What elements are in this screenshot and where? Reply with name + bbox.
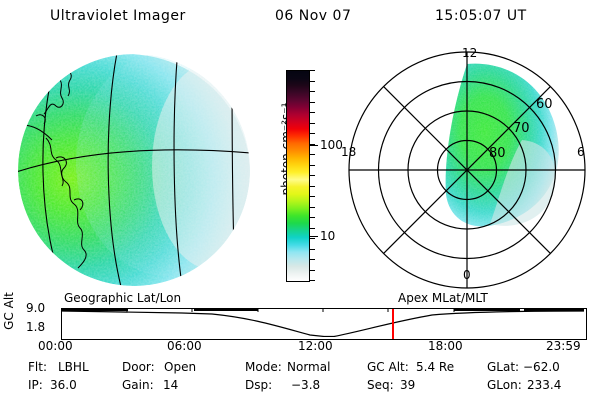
gc-altitude-trace <box>62 309 584 337</box>
orbit-timeline-panel[interactable]: Geographic Lat/Lon Apex MLat/MLT GC Alt … <box>0 290 600 356</box>
globe-panel-caption: Geographic Lat/Lon <box>64 291 181 305</box>
status-glat-key: GLat: <box>487 360 519 374</box>
timeline-y-tick-high: 9.0 <box>26 301 45 315</box>
observation-date: 06 Nov 07 <box>275 8 351 24</box>
polar-panel-caption: Apex MLat/MLT <box>398 291 488 305</box>
colorbar-minor-tick <box>309 81 315 82</box>
status-gcalt-value: 5.4 Re <box>416 360 454 374</box>
status-mode-key: Mode: <box>245 360 282 374</box>
timeline-x-tick-2: 12:00 <box>298 339 333 353</box>
colorbar-minor-tick <box>309 270 315 271</box>
status-door-key: Door: <box>122 360 155 374</box>
header-bar: Ultraviolet Imager 06 Nov 07 15:05:07 UT <box>0 4 600 30</box>
status-glat-value: −62.0 <box>523 360 560 374</box>
status-seq-key: Seq: <box>367 378 394 392</box>
mlt-label-6: 6 <box>577 145 585 159</box>
lat-ring-label-80: 80 <box>489 146 506 161</box>
colorbar-minor-tick <box>309 207 315 208</box>
colorbar-minor-tick <box>309 91 315 92</box>
status-mode-value: Normal <box>287 360 330 374</box>
status-gain-key: Gain: <box>122 378 154 392</box>
timeline-x-tick-0: 00:00 <box>38 339 73 353</box>
timeline-x-tick-3: 18:00 <box>428 339 463 353</box>
colorbar-minor-tick <box>309 112 315 113</box>
colorbar-minor-tick <box>309 154 315 155</box>
mlt-label-12: 12 <box>462 46 477 60</box>
status-gcalt-key: GC Alt: <box>367 360 409 374</box>
colorbar-minor-tick <box>309 196 315 197</box>
colorbar-minor-tick <box>309 165 315 166</box>
colorbar-minor-tick <box>309 102 315 103</box>
instrument-title: Ultraviolet Imager <box>50 8 186 24</box>
geographic-globe-panel[interactable] <box>4 46 256 294</box>
status-dsp-key: Dsp: <box>245 378 272 392</box>
status-gain-value: 14 <box>163 378 178 392</box>
status-flt-value: LBHL <box>58 360 89 374</box>
apex-polar-dial-panel[interactable]: 60 70 80 12 18 6 0 <box>336 44 598 296</box>
timeline-plot-area[interactable] <box>61 308 587 340</box>
lat-ring-label-70: 70 <box>513 121 530 136</box>
timeline-y-axis-label: GC Alt <box>2 288 16 334</box>
colorbar-minor-tick <box>309 175 315 176</box>
colorbar-minor-tick <box>309 70 315 71</box>
polar-dial-graphic: 60 70 80 <box>336 44 598 296</box>
mlt-label-18: 18 <box>341 145 356 159</box>
status-door-value: Open <box>164 360 196 374</box>
colorbar-minor-tick <box>309 133 315 134</box>
status-glon-value: 233.4 <box>527 378 561 392</box>
colorbar-minor-tick <box>309 228 315 229</box>
colorbar-minor-tick <box>309 186 315 187</box>
timeline-y-tick-low: 1.8 <box>26 320 45 334</box>
colorbar-minor-tick <box>309 249 315 250</box>
observation-time: 15:05:07 UT <box>435 8 527 24</box>
colorbar-panel: photon cm⁻²s⁻¹ 10010 <box>258 46 332 294</box>
timeline-x-tick-4: 23:59 <box>546 339 581 353</box>
colorbar-axis: 10010 <box>309 70 331 282</box>
colorbar-minor-tick <box>309 238 315 239</box>
timeline-current-time-cursor[interactable] <box>392 309 394 339</box>
colorbar-minor-tick <box>309 280 315 281</box>
mlt-label-0: 0 <box>463 268 471 282</box>
status-footer: Flt: LBHL Door: Open Mode: Normal GC Alt… <box>0 358 600 400</box>
status-ip-value: 36.0 <box>50 378 77 392</box>
status-glon-key: GLon: <box>487 378 522 392</box>
status-ip-key: IP: <box>28 378 43 392</box>
colorbar-minor-tick <box>309 123 315 124</box>
timeline-x-tick-1: 06:00 <box>167 339 202 353</box>
lat-ring-label-60: 60 <box>536 97 553 112</box>
colorbar-minor-tick <box>309 259 315 260</box>
status-dsp-value: −3.8 <box>291 378 320 392</box>
auroral-globe-image <box>18 54 250 286</box>
status-seq-value: 39 <box>400 378 415 392</box>
colorbar-tick-label: 10 <box>320 229 335 243</box>
globe-coastline-layer <box>18 54 250 286</box>
colorbar-minor-tick <box>309 217 315 218</box>
colorbar-gradient <box>286 70 310 282</box>
colorbar-major-tick <box>309 145 318 146</box>
status-flt-key: Flt: <box>28 360 47 374</box>
colorbar-major-tick <box>309 236 318 237</box>
